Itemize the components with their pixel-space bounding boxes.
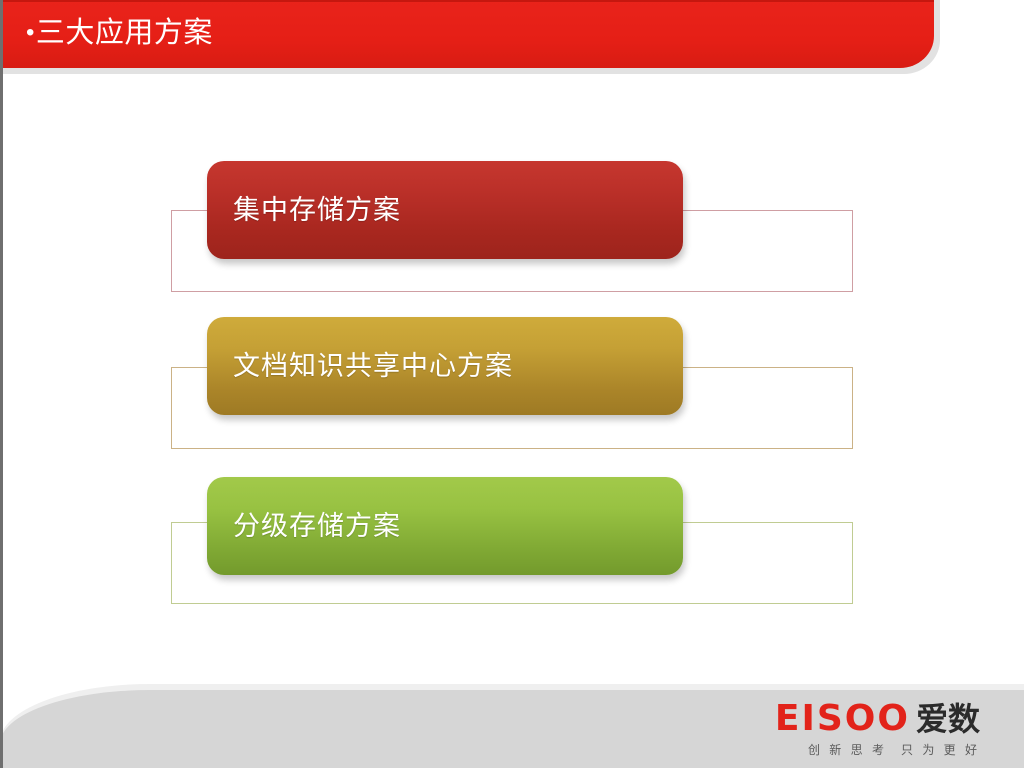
three-solutions-diagram: 集中存储方案 文档知识共享中心方案 分级存储方案: [0, 0, 1024, 768]
slide-left-edge: [0, 0, 3, 768]
solution-pill-1[interactable]: 集中存储方案: [207, 161, 683, 259]
solution-label-1: 集中存储方案: [207, 194, 401, 226]
brand-logo-main: EISOO 爱数: [775, 700, 980, 738]
solution-label-2: 文档知识共享中心方案: [207, 350, 513, 382]
brand-tagline: 创 新 思 考只 为 更 好: [775, 741, 980, 758]
brand-logo-chinese: 爱数: [916, 701, 980, 737]
brand-tagline-right: 只 为 更 好: [901, 743, 980, 757]
brand-tagline-left: 创 新 思 考: [808, 743, 887, 757]
brand-logo: EISOO 爱数 创 新 思 考只 为 更 好: [775, 700, 980, 758]
brand-logo-latin: EISOO: [775, 700, 910, 738]
solution-pill-3[interactable]: 分级存储方案: [207, 477, 683, 575]
solution-label-3: 分级存储方案: [207, 510, 401, 542]
slide-canvas: •三大应用方案 集中存储方案 文档知识共享中心方案 分级存储方案 EISOO: [0, 0, 1024, 768]
solution-pill-2[interactable]: 文档知识共享中心方案: [207, 317, 683, 415]
